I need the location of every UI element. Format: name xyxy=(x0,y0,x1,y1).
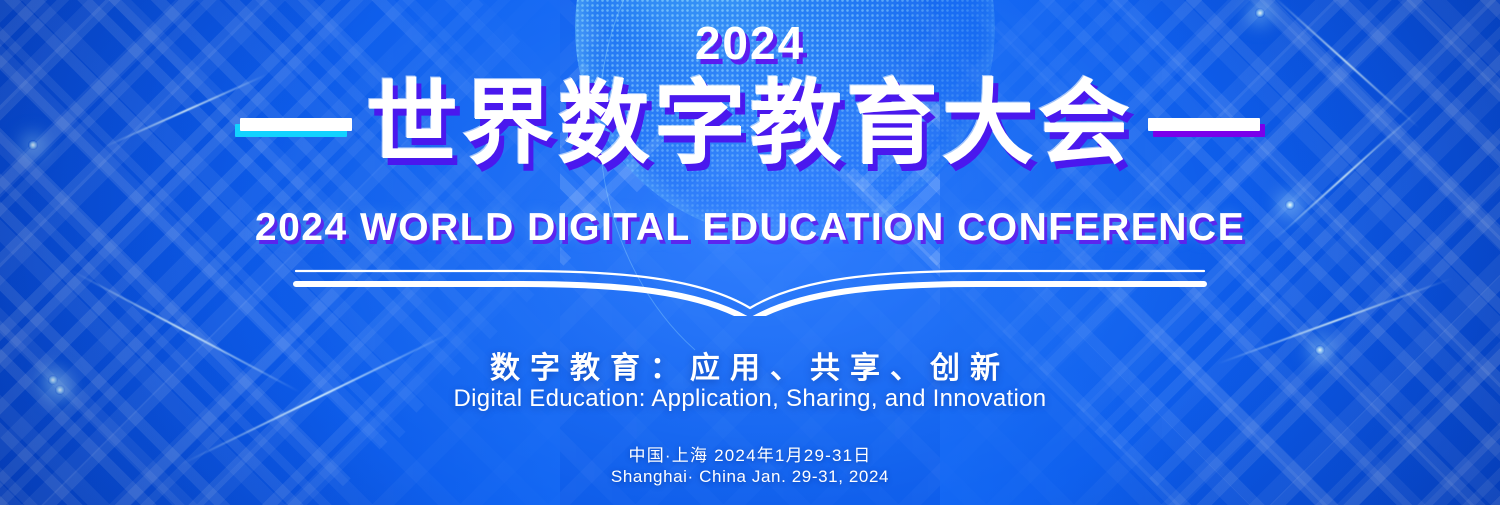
chinese-theme: 数字教育：应用、共享、创新 xyxy=(0,343,1500,387)
conference-banner: 2024 世界数字教育大会 2024 WORLD DIGITAL EDUCATI… xyxy=(0,0,1500,505)
title-dash-left-icon xyxy=(240,118,352,131)
location-date-english: Shanghai· China Jan. 29-31, 2024 xyxy=(0,467,1500,487)
title-dash-right-icon xyxy=(1148,118,1260,131)
year-label: 2024 xyxy=(0,16,1500,70)
english-theme: Digital Education: Application, Sharing,… xyxy=(0,385,1500,413)
english-title: 2024 WORLD DIGITAL EDUCATION CONFERENCE xyxy=(0,206,1500,250)
open-book-divider-icon xyxy=(290,258,1210,316)
chinese-title-row: 世界数字教育大会 xyxy=(0,76,1500,173)
location-date-chinese: 中国·上海 2024年1月29-31日 xyxy=(0,441,1500,466)
chinese-title: 世界数字教育大会 xyxy=(366,76,1134,173)
banner-content: 2024 世界数字教育大会 2024 WORLD DIGITAL EDUCATI… xyxy=(0,0,1500,505)
